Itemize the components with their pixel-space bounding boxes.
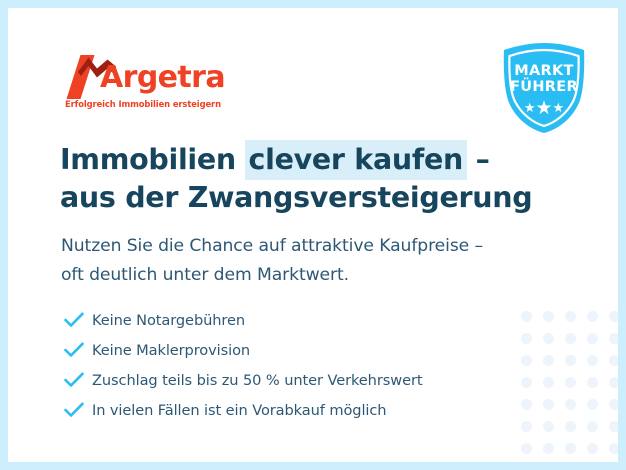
banner-frame: Argetra Erfolgreich Immobilien ersteiger… (0, 0, 626, 470)
list-item-label: In vielen Fällen ist ein Vorabkauf mögli… (92, 402, 386, 419)
list-item-label: Zuschlag teils bis zu 50 % unter Verkehr… (92, 372, 422, 389)
headline-highlight: clever kaufen (245, 140, 467, 180)
badge-text: MARKT FÜHRER (498, 63, 590, 96)
headline-line-2: aus der Zwangsversteigerung (60, 179, 580, 217)
list-item: Keine Notargebühren (64, 305, 524, 335)
benefits-checklist: Keine Notargebühren Keine Maklerprovisio… (64, 305, 524, 425)
check-icon (64, 309, 92, 331)
list-item-label: Keine Notargebühren (92, 312, 245, 329)
list-item: Zuschlag teils bis zu 50 % unter Verkehr… (64, 365, 524, 395)
subheading: Nutzen Sie die Chance auf attraktive Kau… (61, 232, 581, 290)
badge-line-markt: MARKT (498, 63, 590, 79)
banner-card: Argetra Erfolgreich Immobilien ersteiger… (8, 8, 618, 462)
check-icon (64, 399, 92, 421)
headline-line-1: Immobilien clever kaufen – (60, 141, 580, 179)
check-icon (64, 339, 92, 361)
list-item-label: Keine Maklerprovision (92, 342, 250, 359)
markt-fuehrer-badge: MARKT FÜHRER ★★★ (498, 41, 590, 135)
list-item: In vielen Fällen ist ein Vorabkauf mögli… (64, 395, 524, 425)
logo-row: Argetra (64, 55, 214, 99)
dot-grid-decoration (521, 311, 618, 462)
logo-tagline: Erfolgreich Immobilien ersteigern (65, 99, 221, 109)
badge-line-fuehrer: FÜHRER (498, 79, 590, 96)
badge-stars: ★★★ (498, 101, 590, 116)
argetra-logo[interactable]: Argetra Erfolgreich Immobilien ersteiger… (64, 55, 214, 117)
check-icon (64, 369, 92, 391)
headline-prefix: Immobilien (60, 143, 246, 176)
page-title: Immobilien clever kaufen – aus der Zwang… (60, 141, 580, 217)
logo-wordmark: Argetra (100, 59, 225, 97)
headline-suffix: – (466, 143, 490, 176)
list-item: Keine Maklerprovision (64, 335, 524, 365)
subheading-line-1: Nutzen Sie die Chance auf attraktive Kau… (61, 232, 581, 261)
subheading-line-2: oft deutlich unter dem Marktwert. (61, 261, 581, 290)
